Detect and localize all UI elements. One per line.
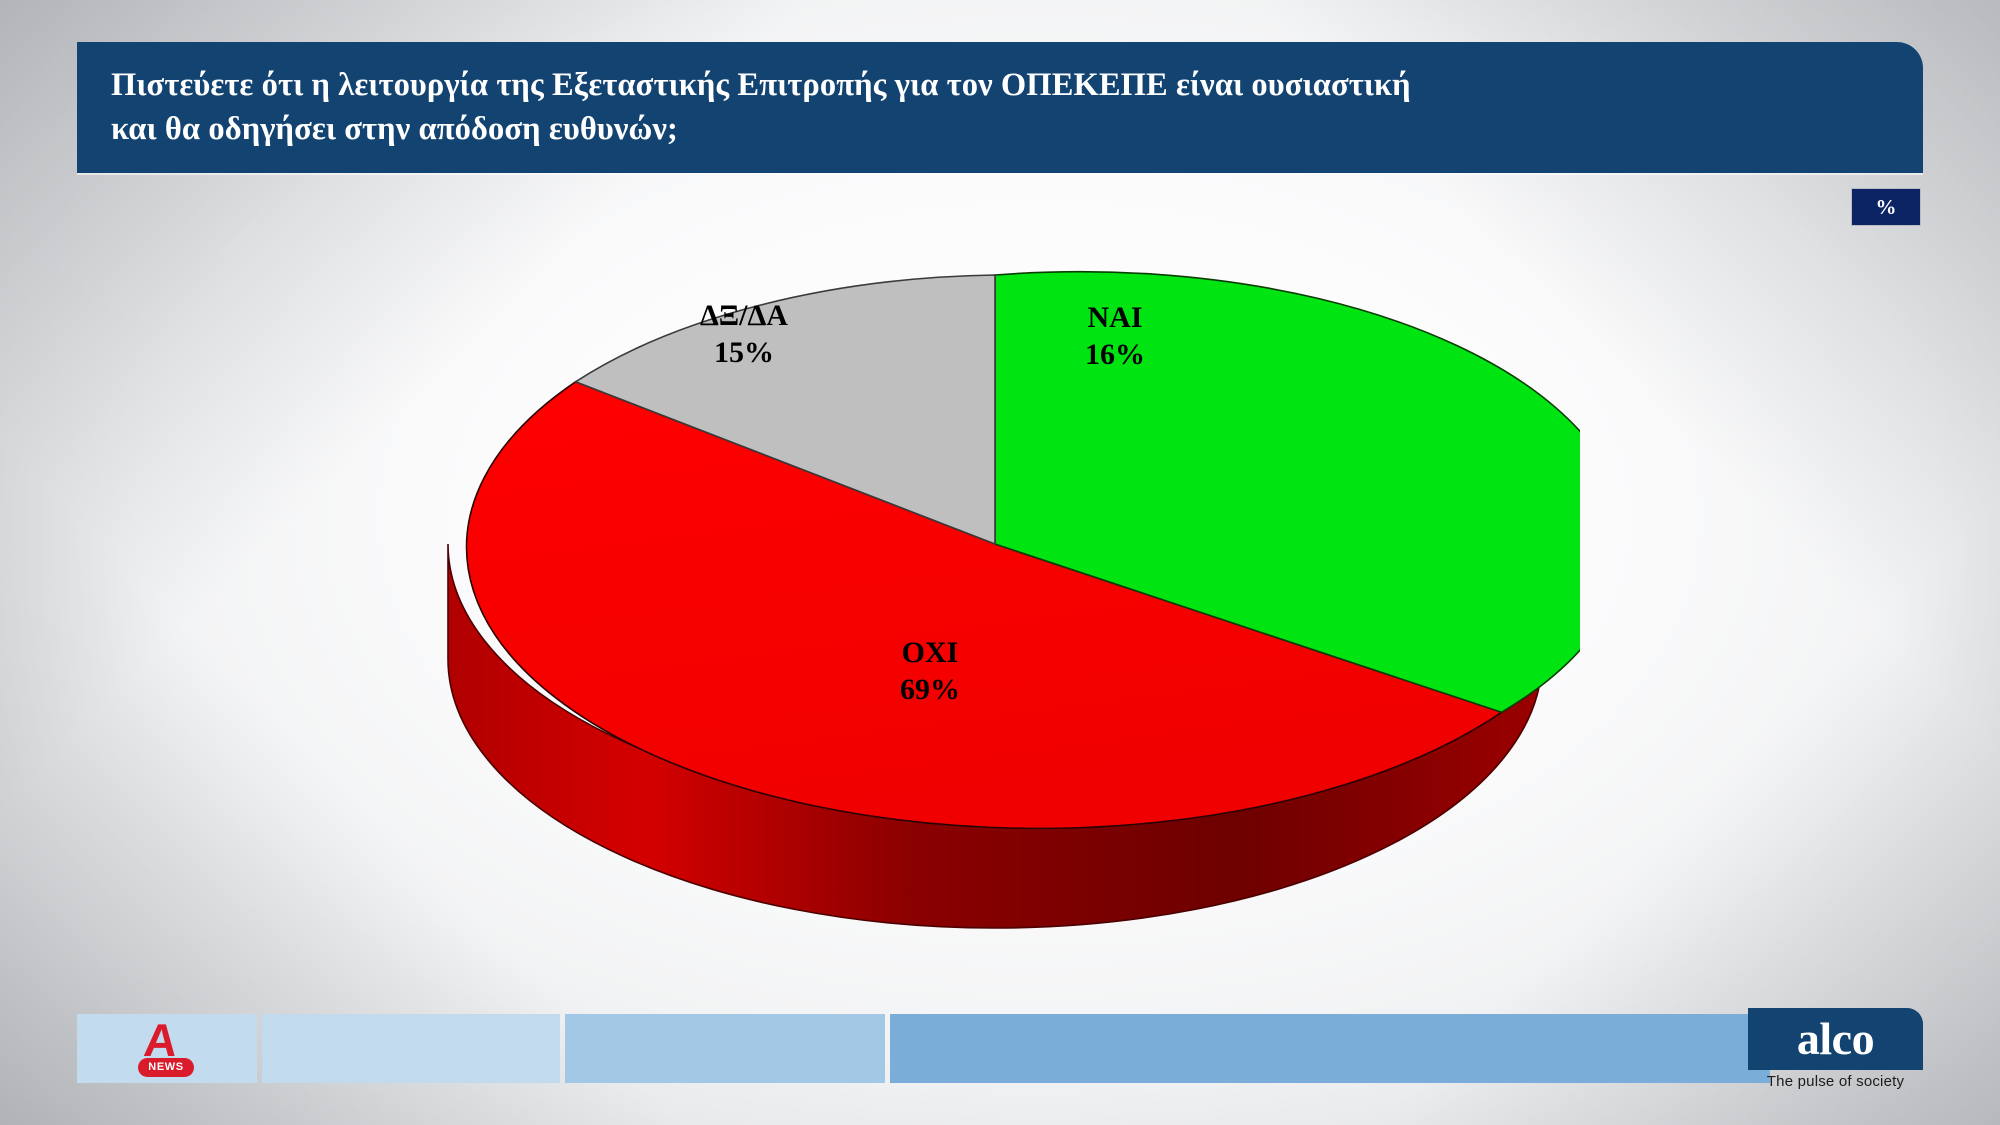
pie-label-oxi-name: ΟΧΙ [900,635,960,672]
percent-unit-badge: % [1851,188,1921,226]
alco-wordmark: alco [1797,1016,1874,1062]
pie-label-nai-value: 16% [1085,337,1145,374]
alpha-a-icon: A [142,1020,179,1060]
pie-label-nai-name: ΝΑΙ [1085,300,1145,337]
percent-unit-label: % [1876,197,1897,218]
alco-logo-box: alco [1748,1008,1923,1070]
question-title-bar: Πιστεύετε ότι η λειτουργία της Εξεταστικ… [77,42,1923,173]
pie-label-dk: ΔΞ/ΔΑ 15% [700,298,788,371]
pie-chart-svg [420,250,1580,960]
footer-bar: A NEWS [77,1014,1922,1083]
footer-segment-four [890,1014,1770,1083]
slide-canvas: Πιστεύετε ότι η λειτουργία της Εξεταστικ… [0,0,2000,1125]
page-title: Πιστεύετε ότι η λειτουργία της Εξεταστικ… [111,64,1889,151]
alpha-news-logo: A NEWS [132,1020,202,1078]
pie-label-dk-value: 15% [700,335,788,372]
pie-chart [420,250,1580,960]
footer-segment-two [262,1014,560,1083]
pie-label-oxi: ΟΧΙ 69% [900,635,960,708]
pie-label-dk-name: ΔΞ/ΔΑ [700,298,788,335]
alpha-news-pill: NEWS [138,1058,194,1077]
footer-segment-three [565,1014,885,1083]
alco-tagline: The pulse of society [1748,1073,1923,1090]
footer-segment-logo: A NEWS [77,1014,257,1083]
alco-logo: alco The pulse of society [1748,1008,1923,1090]
pie-label-nai: ΝΑΙ 16% [1085,300,1145,373]
pie-label-oxi-value: 69% [900,672,960,709]
